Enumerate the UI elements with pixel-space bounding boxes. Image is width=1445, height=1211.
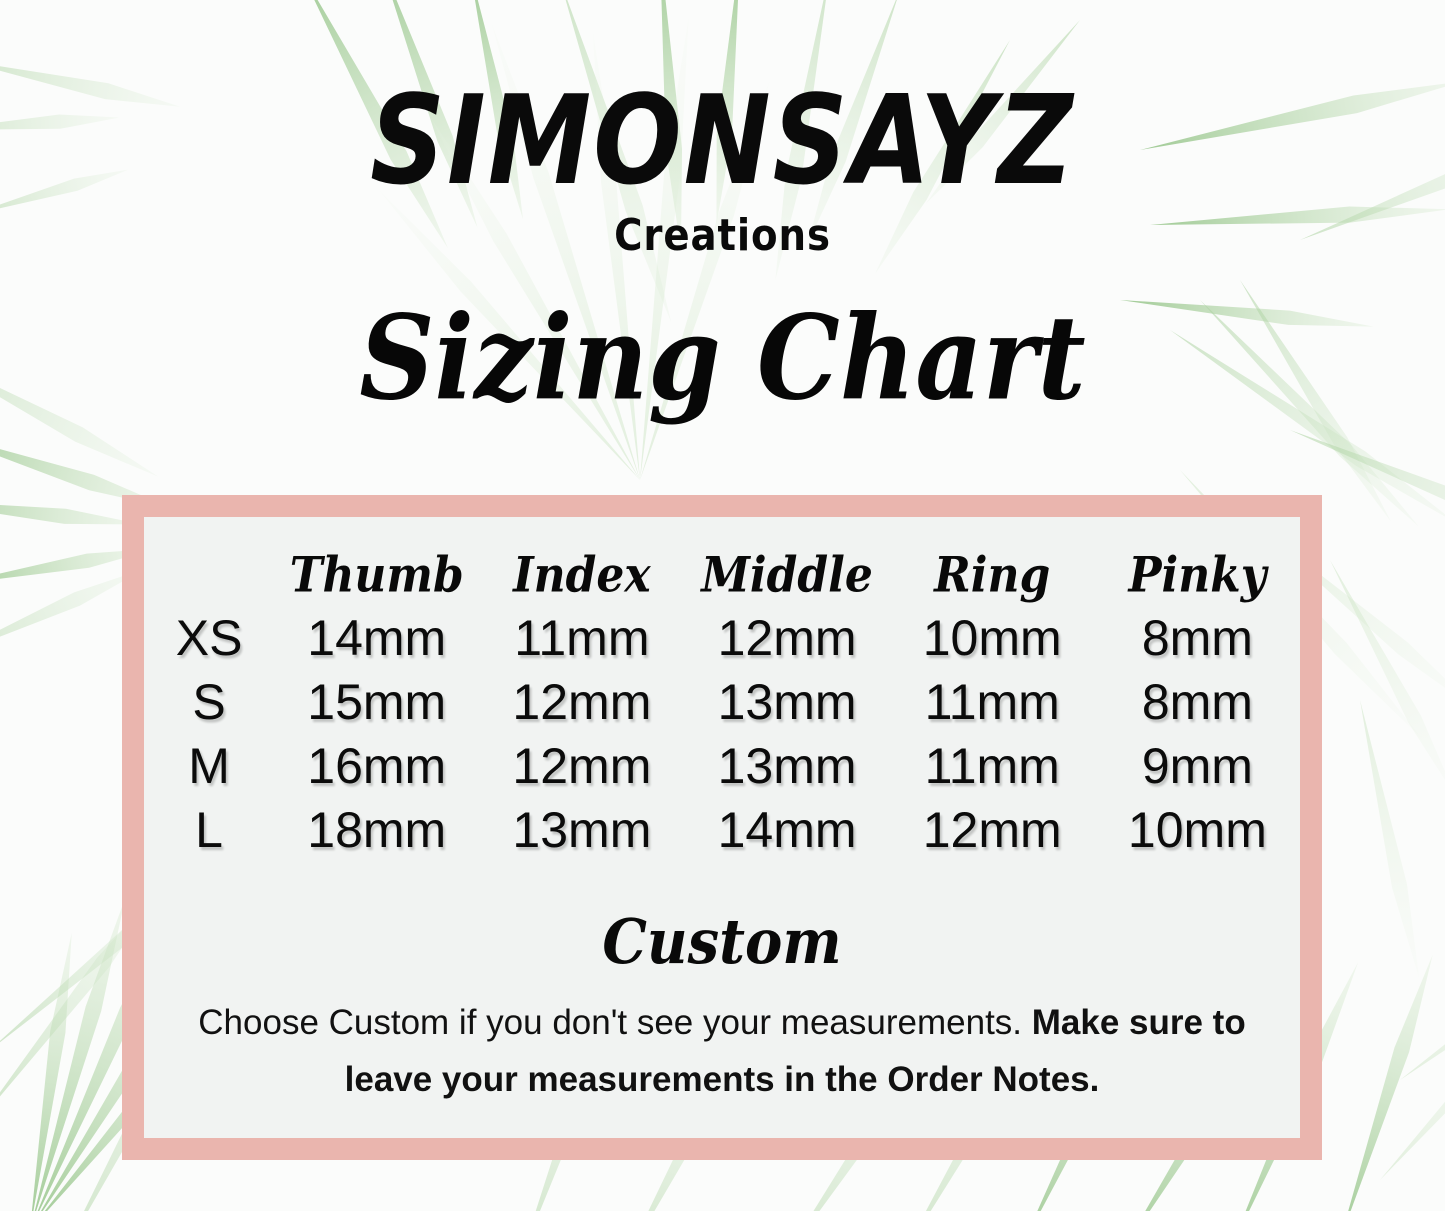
sizing-table-head: Thumb Index Middle Ring Pinky (144, 547, 1300, 606)
cell-value: 12mm (479, 734, 684, 798)
row-size-label: M (144, 734, 274, 798)
cell-value: 14mm (274, 606, 479, 670)
column-header-label: Ring (934, 544, 1050, 609)
table-corner-cell (144, 547, 274, 606)
cell-value: 13mm (684, 734, 889, 798)
custom-note-regular: Choose Custom if you don't see your meas… (198, 1003, 1022, 1042)
cell-value: 16mm (274, 734, 479, 798)
column-header-label: Thumb (290, 544, 464, 609)
cell-value: 10mm (890, 606, 1095, 670)
custom-heading: Custom (144, 906, 1300, 979)
brand-logo: SIMONSAYZ Creations (0, 78, 1445, 261)
cell-value: 13mm (479, 798, 684, 862)
brand-wordmark: SIMONSAYZ (0, 78, 1445, 203)
sizing-chart-card: Thumb Index Middle Ring Pinky (122, 495, 1322, 1160)
row-size-label: XS (144, 606, 274, 670)
column-header-thumb: Thumb (274, 547, 479, 606)
cell-value: 8mm (1095, 670, 1300, 734)
column-header-label: Index (513, 544, 651, 609)
table-row: XS 14mm 11mm 12mm 10mm 8mm (144, 606, 1300, 670)
row-size-label: L (144, 798, 274, 862)
column-header-label: Pinky (1128, 544, 1266, 609)
cell-value: 9mm (1095, 734, 1300, 798)
table-row: M 16mm 12mm 13mm 11mm 9mm (144, 734, 1300, 798)
cell-value: 11mm (479, 606, 684, 670)
column-header-label: Middle (701, 544, 873, 609)
cell-value: 12mm (684, 606, 889, 670)
cell-value: 13mm (684, 670, 889, 734)
page-title: Sizing Chart (0, 300, 1445, 416)
column-header-ring: Ring (890, 547, 1095, 606)
table-row: S 15mm 12mm 13mm 11mm 8mm (144, 670, 1300, 734)
cell-value: 18mm (274, 798, 479, 862)
cell-value: 11mm (890, 734, 1095, 798)
sizing-chart-panel: Thumb Index Middle Ring Pinky (144, 517, 1300, 1138)
cell-value: 12mm (890, 798, 1095, 862)
table-header-row: Thumb Index Middle Ring Pinky (144, 547, 1300, 606)
cell-value: 12mm (479, 670, 684, 734)
row-size-label: S (144, 670, 274, 734)
cell-value: 8mm (1095, 606, 1300, 670)
brand-tagline: Creations (87, 210, 1359, 261)
sizing-table: Thumb Index Middle Ring Pinky (144, 547, 1300, 862)
custom-note: Choose Custom if you don't see your meas… (184, 995, 1260, 1108)
column-header-middle: Middle (684, 547, 889, 606)
column-header-pinky: Pinky (1095, 547, 1300, 606)
table-row: L 18mm 13mm 14mm 12mm 10mm (144, 798, 1300, 862)
cell-value: 11mm (890, 670, 1095, 734)
column-header-index: Index (479, 547, 684, 606)
sizing-chart-image: SIMONSAYZ Creations Sizing Chart Thumb I… (0, 0, 1445, 1211)
cell-value: 15mm (274, 670, 479, 734)
sizing-table-body: XS 14mm 11mm 12mm 10mm 8mm S 15mm 12mm 1… (144, 606, 1300, 862)
cell-value: 14mm (684, 798, 889, 862)
cell-value: 10mm (1095, 798, 1300, 862)
